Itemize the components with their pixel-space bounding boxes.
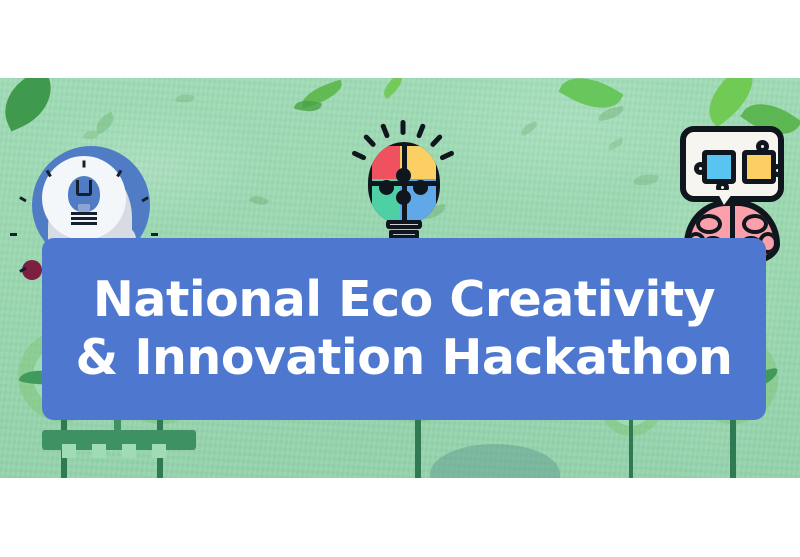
puzzle-piece-blue-bubble [702, 150, 736, 184]
lightbulb-glass [368, 142, 440, 224]
disc-dash-11 [46, 170, 52, 178]
puzzle-piece-yellow-bubble [742, 150, 776, 184]
bulb-ray-1 [363, 134, 377, 148]
disc-dash-3 [151, 233, 158, 236]
title-banner: National Eco Creativity & Innovation Hac… [42, 238, 766, 420]
inner-bulb-filament [76, 180, 92, 196]
poster-title-line-1: National Eco Creativity [93, 271, 715, 329]
screenshot-canvas: National Eco Creativity & Innovation Hac… [0, 0, 800, 557]
inner-bulb-base [71, 212, 97, 226]
bulb-ray-2 [380, 123, 390, 139]
puzzle-knob-b [396, 190, 411, 205]
bulb-ray-5 [429, 134, 443, 148]
disc-dash-9 [10, 233, 17, 236]
lightbulb-screw-upper [386, 220, 422, 229]
puzzle-knob-a [396, 168, 411, 183]
bulb-ray-3 [401, 120, 406, 135]
puzzle-knob-d [413, 180, 428, 195]
poster-title-line-2: & Innovation Hackathon [76, 329, 733, 387]
bulb-ray-6 [439, 150, 455, 161]
event-poster-banner: National Eco Creativity & Innovation Hac… [0, 78, 800, 478]
bulb-ray-4 [416, 123, 426, 139]
speech-bubble-tail-inner [716, 190, 735, 205]
puzzle-knob-c [379, 180, 394, 195]
disc-dash-0 [83, 161, 86, 168]
disc-dash-10 [19, 196, 27, 202]
bulb-ray-0 [351, 150, 367, 161]
